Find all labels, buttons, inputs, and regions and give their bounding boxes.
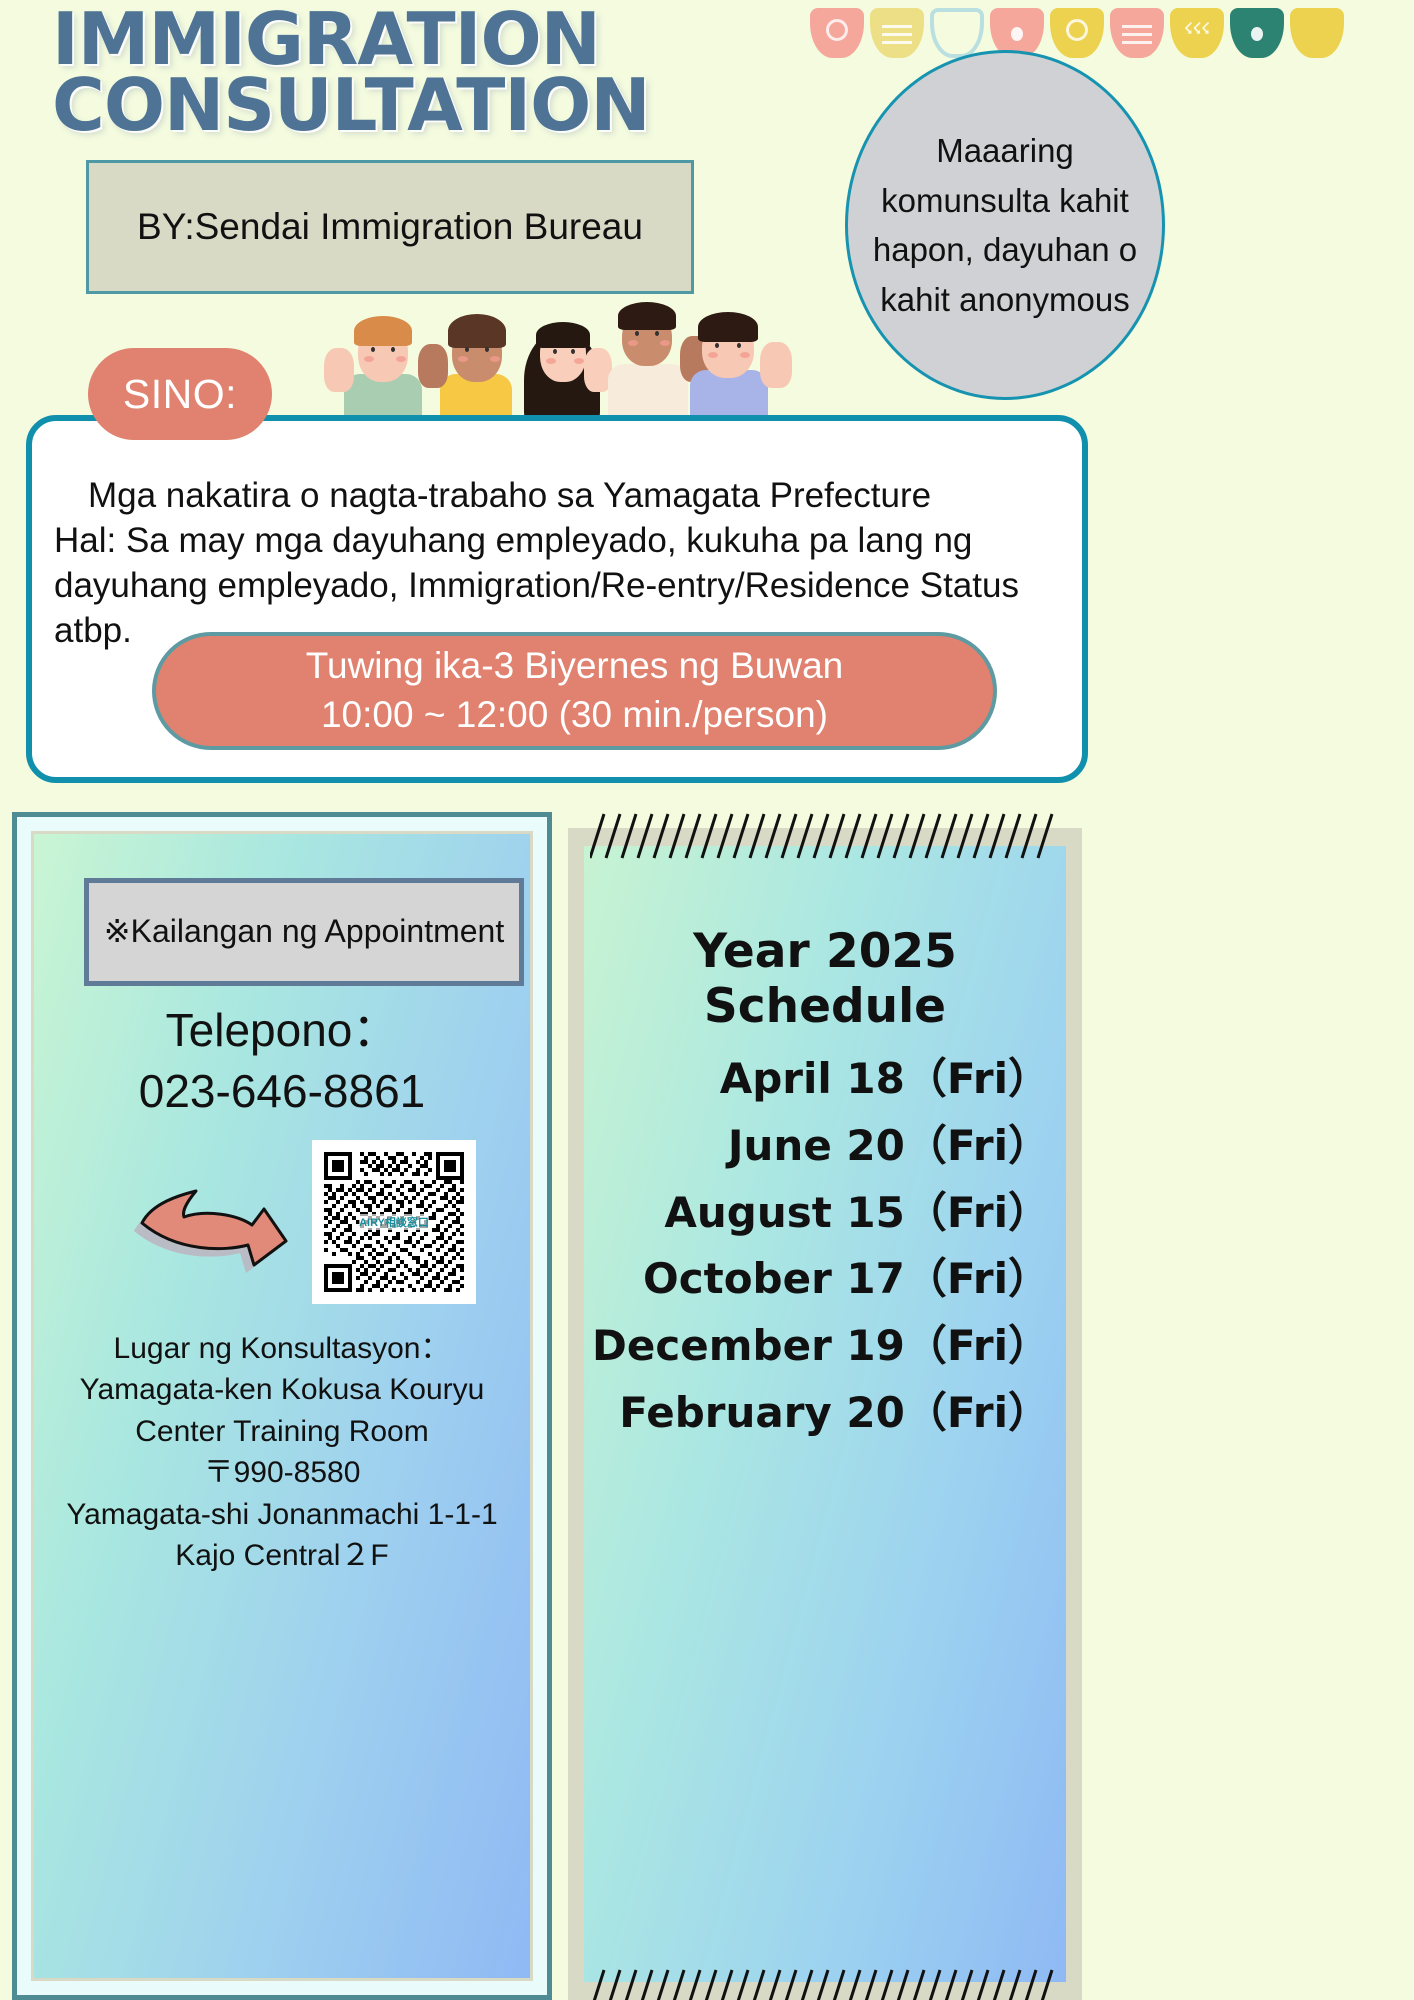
schedule-date: October 17（Fri） [584, 1246, 1050, 1313]
person-5-cheek [708, 352, 718, 358]
person-5-hand [760, 342, 792, 388]
person-3-hair-front [536, 322, 590, 348]
person-4-hair [618, 302, 676, 330]
schedule-date: August 15（Fri） [584, 1180, 1050, 1247]
title-line-2: CONSULTATION [52, 63, 650, 147]
bunting-flag-9 [1290, 8, 1344, 58]
qr-code[interactable]: AIRY相談窓口 [312, 1140, 476, 1304]
person-5-eye-left [715, 343, 719, 348]
hatch-bottom-decoration [590, 1968, 1060, 2000]
person-4-cheek-2 [660, 340, 670, 346]
address-block: Lugar ng Konsultasyon： Yamagata-ken Koku… [34, 1328, 530, 1576]
person-1-eye-left [371, 347, 375, 352]
band-line-2: 10:00 ~ 12:00 (30 min./person) [321, 691, 828, 740]
address-line-3: Center Training Room [34, 1411, 530, 1452]
person-1-hand [324, 348, 354, 392]
schedule-card: Year 2025 Schedule April 18（Fri） June 20… [568, 828, 1082, 2000]
person-1-cheek-2 [396, 356, 406, 362]
note-bubble-text: Maaaring komunsulta kahit hapon, dayuhan… [848, 126, 1162, 324]
person-1-eye-right [391, 347, 395, 352]
person-3-eye-right [571, 349, 575, 354]
person-1-cheek [364, 356, 374, 362]
person-2-hair [448, 314, 506, 348]
schedule-date-list: April 18（Fri） June 20（Fri） August 15（Fri… [584, 1046, 1066, 1447]
person-3-cheek [546, 358, 556, 364]
telephone-block: Telepono： 023-646-8861 [34, 1000, 530, 1122]
bunting-flag-7: ☇☇☇ [1170, 8, 1224, 58]
address-line-6: Kajo Central２F [34, 1535, 530, 1576]
schedule-card-inner: Year 2025 Schedule April 18（Fri） June 20… [584, 846, 1066, 1982]
appointment-note-text: ※Kailangan ng Appointment [104, 911, 504, 953]
person-5-cheek-2 [740, 352, 750, 358]
person-2-cheek [458, 356, 468, 362]
bunting-decoration: ☇☇☇ [810, 8, 1410, 70]
person-4-eye-right [655, 331, 659, 336]
qr-code-label: AIRY相談窓口 [359, 1214, 429, 1230]
band-line-1: Tuwing ika-3 Biyernes ng Buwan [306, 642, 843, 691]
schedule-date: June 20（Fri） [584, 1113, 1050, 1180]
bunting-flag-8 [1230, 8, 1284, 58]
schedule-date: February 20（Fri） [584, 1380, 1050, 1447]
person-1-hair [354, 316, 412, 346]
schedule-date: December 19（Fri） [584, 1313, 1050, 1380]
bunting-flag-1 [810, 8, 864, 58]
address-line-1: Lugar ng Konsultasyon： [34, 1328, 530, 1369]
sino-badge: SINO: [88, 348, 272, 440]
telephone-number[interactable]: 023-646-8861 [34, 1061, 530, 1122]
eligibility-line-1: Mga nakatira o nagta-trabaho sa Yamagata… [54, 473, 1074, 518]
person-5-eye-right [737, 343, 741, 348]
schedule-heading: Year 2025 Schedule [584, 924, 1066, 1034]
telephone-label: Telepono： [34, 1000, 530, 1061]
bunting-flag-5 [1050, 8, 1104, 58]
organizer-label: BY:Sendai Immigration Bureau [137, 204, 643, 250]
note-bubble: Maaaring komunsulta kahit hapon, dayuhan… [845, 50, 1165, 400]
arrow-icon [134, 1179, 294, 1284]
organizer-box: BY:Sendai Immigration Bureau [86, 160, 694, 294]
person-3-cheek-2 [574, 358, 584, 364]
flag-scallop-detail: ☇☇☇ [1184, 22, 1210, 37]
bunting-flag-6 [1110, 8, 1164, 58]
contact-card: ※Kailangan ng Appointment Telepono： 023-… [12, 812, 552, 2000]
eligibility-paragraph: Mga nakatira o nagta-trabaho sa Yamagata… [54, 473, 1074, 654]
schedule-time-band: Tuwing ika-3 Biyernes ng Buwan 10:00 ~ 1… [152, 632, 997, 750]
sino-badge-label: SINO: [123, 371, 237, 418]
schedule-date: April 18（Fri） [584, 1046, 1050, 1113]
poster-root: ☇☇☇ IMMIGRATION CONSULTATION BY:Sendai I… [0, 0, 1414, 2000]
person-4-cheek [628, 340, 638, 346]
contact-card-inner: ※Kailangan ng Appointment Telepono： 023-… [31, 831, 533, 1981]
address-line-4: 〒990-8580 [34, 1452, 530, 1493]
person-4-eye-left [635, 331, 639, 336]
person-2-cheek-2 [490, 356, 500, 362]
page-title: IMMIGRATION CONSULTATION [52, 6, 752, 138]
address-line-5: Yamagata-shi Jonanmachi 1-1-1 [34, 1494, 530, 1535]
person-2-hand [418, 344, 448, 388]
person-2-eye-right [485, 347, 489, 352]
person-3-eye-left [553, 349, 557, 354]
person-5-hair [698, 312, 758, 342]
appointment-note-box: ※Kailangan ng Appointment [84, 878, 524, 986]
person-2-eye-left [465, 347, 469, 352]
hatch-top-decoration [590, 812, 1060, 860]
bunting-flag-3 [930, 8, 984, 58]
address-line-2: Yamagata-ken Kokusa Kouryu [34, 1369, 530, 1410]
bunting-flag-2 [870, 8, 924, 58]
